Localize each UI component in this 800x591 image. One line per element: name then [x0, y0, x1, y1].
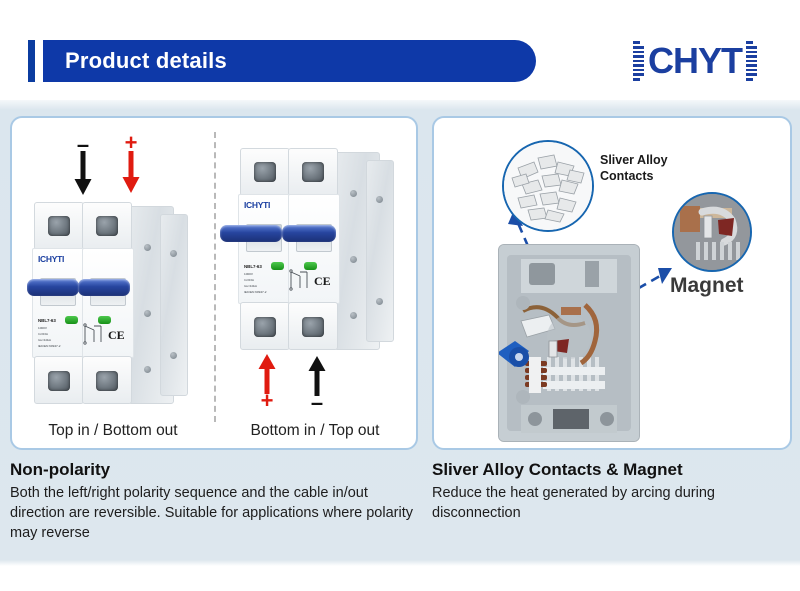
device-side-panel-far [160, 214, 188, 396]
device-model-label: NBL7-63 [244, 264, 262, 269]
status-led-left [271, 262, 284, 270]
terminal-top-left [240, 148, 290, 196]
arrow-down-black-icon [73, 151, 93, 195]
terminal-hole [96, 371, 118, 391]
device-spec-line: IEC/EN 60947-2 [38, 344, 61, 348]
sliver-alloy-contacts-label: Sliver Alloy Contacts [600, 152, 668, 184]
non-polarity-body: Both the left/right polarity sequence an… [10, 483, 422, 543]
terminal-hole [96, 216, 118, 236]
side-rivet [170, 352, 177, 359]
product-details-page: Product details CHYT – [0, 0, 800, 591]
terminal-top-right [82, 202, 132, 250]
wiring-diagram-icon [82, 322, 104, 346]
device-spec-line: 1000V [244, 272, 253, 276]
device-spec-line: In=63A [38, 332, 48, 336]
device-side-panel-far [366, 160, 394, 342]
device-spec-line: Icu=10kA [38, 338, 51, 342]
breaker-internals-icon [499, 245, 639, 441]
logo-left-bars-icon [633, 41, 644, 80]
ce-mark-label: CE [314, 274, 331, 289]
contacts-magnet-image-card: Sliver Alloy Contacts [432, 116, 792, 450]
chyt-logo: CHYT [606, 38, 784, 84]
marker-positive-bottom: + [252, 354, 282, 407]
marker-negative-bottom: – [302, 356, 332, 409]
breaker-device-1: ICHYTI NBL7-63 1000V In=63A Icu=10kA IEC… [32, 202, 202, 402]
toggle-lever-left[interactable] [220, 225, 282, 242]
side-rivet [376, 298, 383, 305]
side-rivet [350, 312, 357, 319]
side-rivet [144, 366, 151, 373]
non-polarity-image-card: – + [10, 116, 418, 450]
header-accent-bar [28, 40, 35, 82]
callout-line-1: Sliver Alloy [600, 152, 668, 168]
contacts-magnet-body: Reduce the heat generated by arcing duri… [432, 483, 792, 523]
magnet-label: Magnet [670, 274, 744, 298]
ce-mark-label: CE [108, 328, 125, 343]
device-brand-label: ICHYTI [244, 200, 270, 210]
terminal-top-right [288, 148, 338, 196]
device-spec-line: 1000V [38, 326, 47, 330]
terminal-bottom-right [288, 302, 338, 350]
terminal-top-left [34, 202, 84, 250]
terminal-hole [302, 317, 324, 337]
marker-negative-top: – [68, 138, 98, 195]
callout-line-2: Contacts [600, 168, 668, 184]
non-polarity-text-block: Non-polarity Both the left/right polarit… [10, 460, 422, 543]
device-brand-label: ICHYTI [38, 254, 64, 264]
device-spec-line: IEC/EN 60947-2 [244, 290, 267, 294]
device-model-label: NBL7-63 [38, 318, 56, 323]
terminal-bottom-right [82, 356, 132, 404]
terminal-hole [48, 216, 70, 236]
page-title: Product details [65, 48, 227, 74]
side-rivet [376, 196, 383, 203]
logo-text: CHYT [648, 43, 742, 79]
logo-right-bars-icon [746, 41, 757, 80]
side-rivet [170, 250, 177, 257]
contacts-magnet-title: Sliver Alloy Contacts & Magnet [432, 460, 792, 480]
toggle-lever-left[interactable] [27, 279, 79, 296]
marker-positive-top: + [116, 136, 146, 193]
breaker-cutaway-illustration [498, 244, 640, 442]
breaker-top-in-bottom-out: – + [12, 118, 214, 448]
breaker-device-2: ICHYTI NBL7-63 1000V In=63A Icu=10kA IEC… [238, 148, 408, 348]
caption-top-in-bottom-out: Top in / Bottom out [12, 422, 214, 440]
terminal-hole [254, 162, 276, 182]
side-rivet [350, 256, 357, 263]
magnet-zoom-icon [674, 194, 750, 270]
toggle-lever-right[interactable] [282, 225, 336, 242]
side-rivet [144, 244, 151, 251]
terminal-bottom-left [240, 302, 290, 350]
terminal-bottom-left [34, 356, 84, 404]
arrow-down-red-icon [121, 149, 141, 193]
device-spec-line: Icu=10kA [244, 284, 257, 288]
magnet-callout-circle [672, 192, 752, 272]
contacts-magnet-text-block: Sliver Alloy Contacts & Magnet Reduce th… [432, 460, 792, 523]
status-led-left [65, 316, 78, 324]
wiring-diagram-icon [288, 268, 310, 292]
page-header: Product details CHYT [0, 0, 800, 100]
side-rivet [350, 190, 357, 197]
caption-bottom-in-top-out: Bottom in / Top out [214, 422, 416, 440]
terminal-hole [254, 317, 276, 337]
breaker-bottom-in-top-out: ICHYTI NBL7-63 1000V In=63A Icu=10kA IEC… [214, 118, 416, 448]
alloy-chips-icon [504, 142, 592, 230]
non-polarity-title: Non-polarity [10, 460, 422, 480]
toggle-lever-right[interactable] [78, 279, 130, 296]
header-banner: Product details [43, 40, 536, 82]
side-rivet [144, 310, 151, 317]
terminal-hole [302, 162, 324, 182]
sliver-alloy-contacts-callout-circle [502, 140, 594, 232]
terminal-hole [48, 371, 70, 391]
device-spec-line: In=63A [244, 278, 254, 282]
